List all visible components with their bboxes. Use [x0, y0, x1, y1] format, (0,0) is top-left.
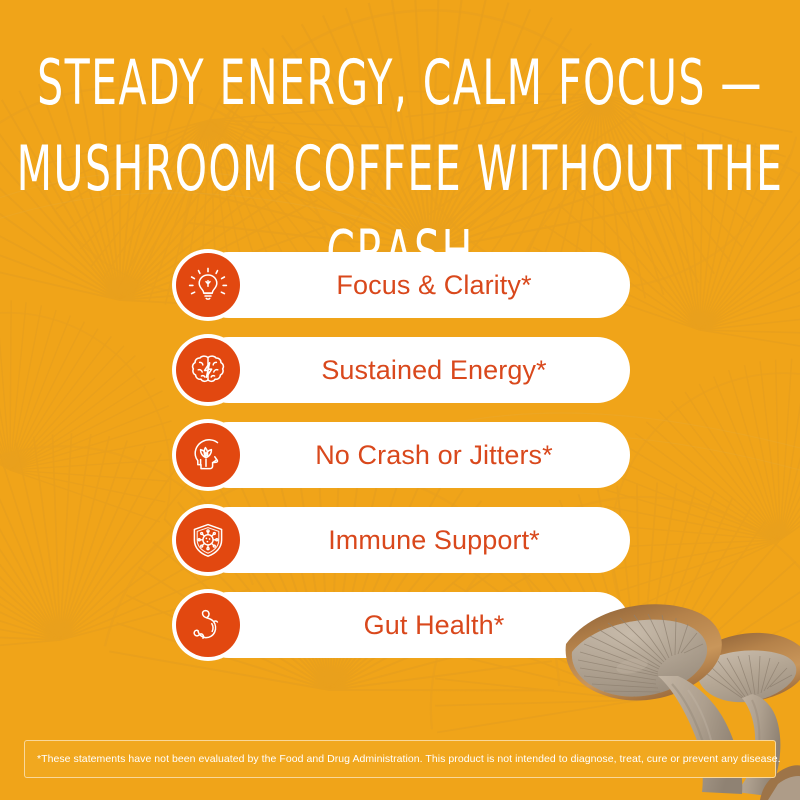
benefit-label: Sustained Energy*: [321, 357, 546, 384]
benefit-label: No Crash or Jitters*: [315, 442, 553, 469]
benefit-pill-focus-clarity[interactable]: Focus & Clarity*: [196, 252, 630, 318]
benefit-pill-no-crash-or-jitters[interactable]: No Crash or Jitters*: [196, 422, 630, 488]
brain-lightning-icon: [172, 334, 244, 406]
list-item[interactable]: Gut Health*: [0, 592, 800, 658]
disclaimer-banner: *These statements have not been evaluate…: [24, 740, 776, 778]
list-item[interactable]: Immune Support*: [0, 507, 800, 573]
stomach-icon: [172, 589, 244, 661]
benefit-label: Focus & Clarity*: [336, 272, 531, 299]
list-item[interactable]: Sustained Energy*: [0, 337, 800, 403]
benefit-pill-sustained-energy[interactable]: Sustained Energy*: [196, 337, 630, 403]
headline-line-1: STEADY ENERGY, CALM FOCUS —: [12, 42, 788, 126]
lightbulb-icon: [172, 249, 244, 321]
shield-virus-icon: [172, 504, 244, 576]
benefits-list: Focus & Clarity*: [0, 252, 800, 677]
list-item[interactable]: Focus & Clarity*: [0, 252, 800, 318]
disclaimer-text: *These statements have not been evaluate…: [37, 753, 781, 766]
list-item[interactable]: No Crash or Jitters*: [0, 422, 800, 488]
benefit-pill-gut-health[interactable]: Gut Health*: [196, 592, 630, 658]
benefit-pill-immune-support[interactable]: Immune Support*: [196, 507, 630, 573]
benefit-label: Gut Health*: [364, 612, 505, 639]
head-lotus-icon: [172, 419, 244, 491]
benefit-label: Immune Support*: [328, 527, 540, 554]
page-title: STEADY ENERGY, CALM FOCUS — MUSHROOM COF…: [0, 42, 800, 256]
